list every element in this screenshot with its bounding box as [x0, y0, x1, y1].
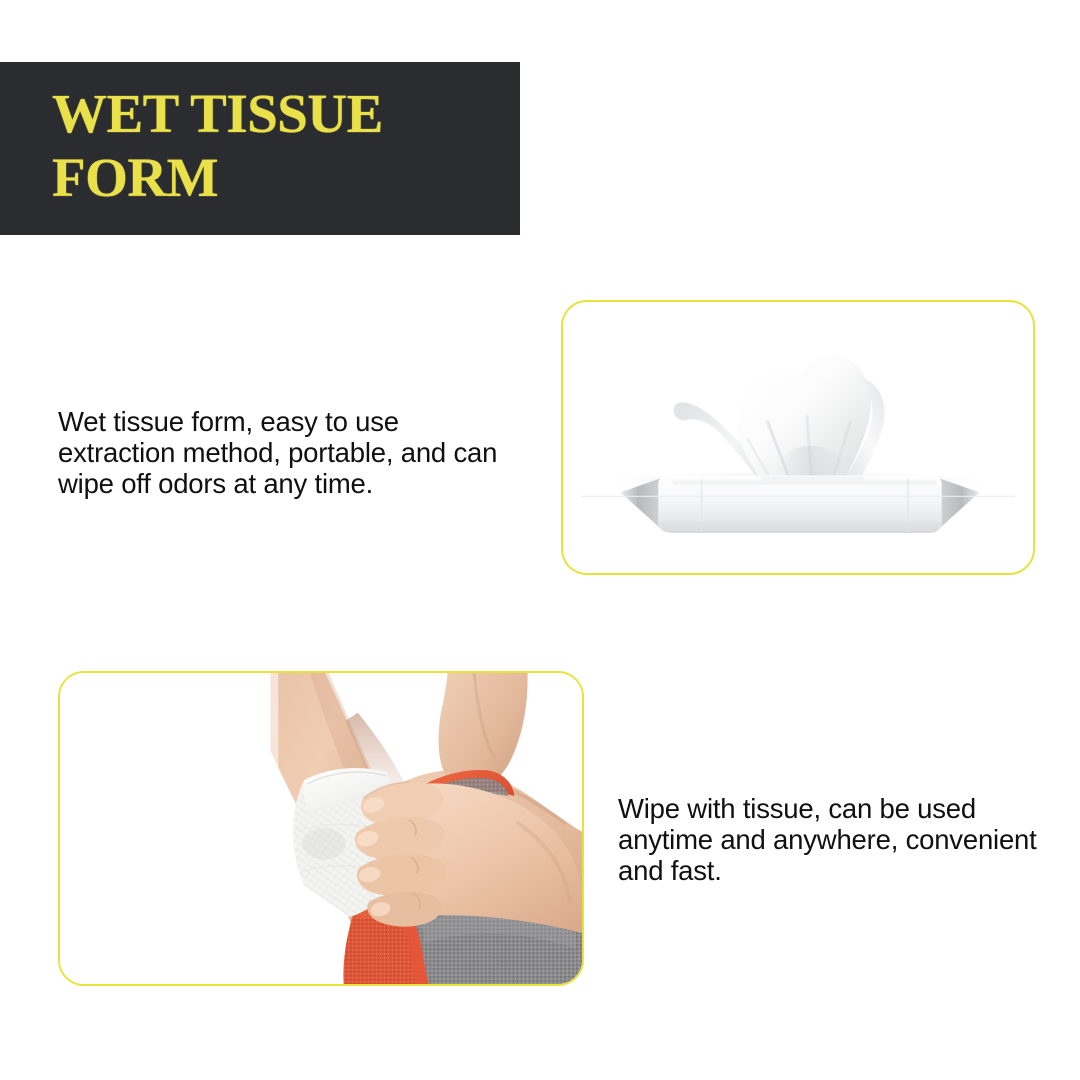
- underarm-wiping-photo: [60, 673, 582, 986]
- tissue-pack-image-card: [561, 300, 1035, 575]
- wet-wipe-pack: [581, 476, 1015, 534]
- header-banner: WET TISSUE FORM: [0, 62, 520, 235]
- page-title: WET TISSUE FORM: [52, 82, 482, 210]
- feature-description-wet-tissue-form: Wet tissue form, easy to use extraction …: [58, 406, 510, 499]
- wet-wipe-pack-image: [563, 302, 1033, 575]
- feature-description-wipe-with-tissue: Wipe with tissue, can be used anytime an…: [618, 793, 1048, 886]
- pack-left-seal: [621, 478, 661, 528]
- underarm-wipe-image-card: [58, 671, 584, 986]
- pack-right-seal: [940, 478, 980, 528]
